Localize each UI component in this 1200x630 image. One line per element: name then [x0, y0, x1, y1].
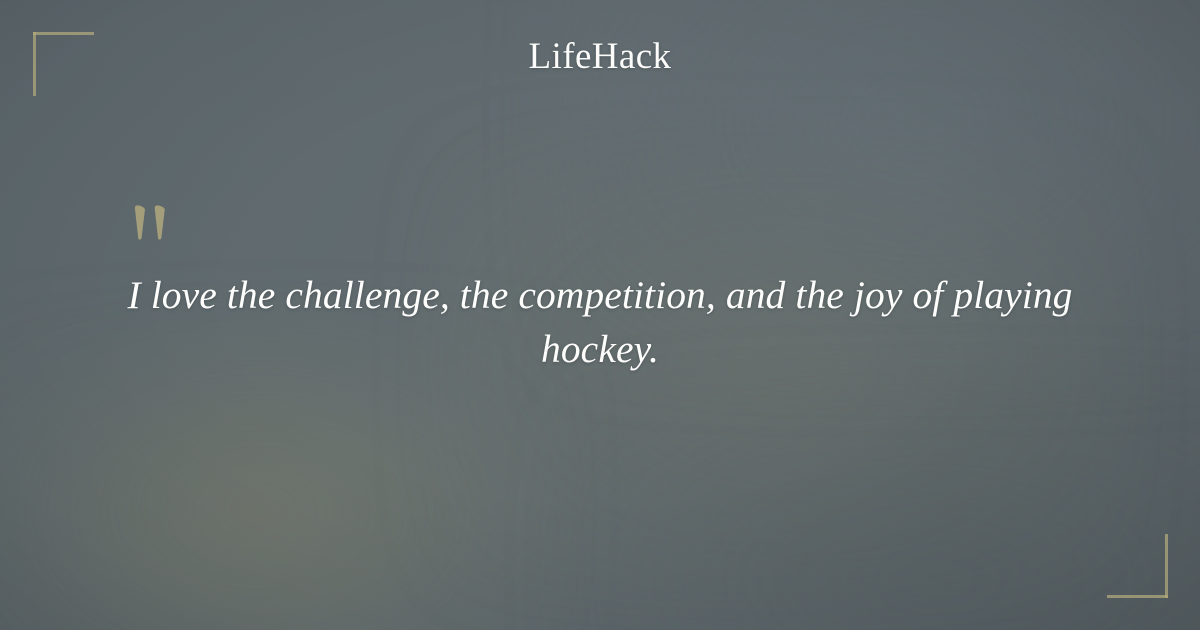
corner-bracket-bottom-right [1107, 534, 1168, 598]
quote-text: I love the challenge, the competition, a… [100, 268, 1100, 376]
lifehack-logo: LifeHack [0, 38, 1200, 75]
corner-bracket-bottom-right-vertical-arm [1165, 534, 1168, 598]
corner-bracket-bottom-right-horizontal-arm [1107, 595, 1168, 598]
quotation-mark-icon [128, 176, 188, 246]
corner-bracket-top-left-horizontal-arm [33, 32, 94, 35]
quote-card: LifeHack I love the challenge, the compe… [0, 0, 1200, 630]
